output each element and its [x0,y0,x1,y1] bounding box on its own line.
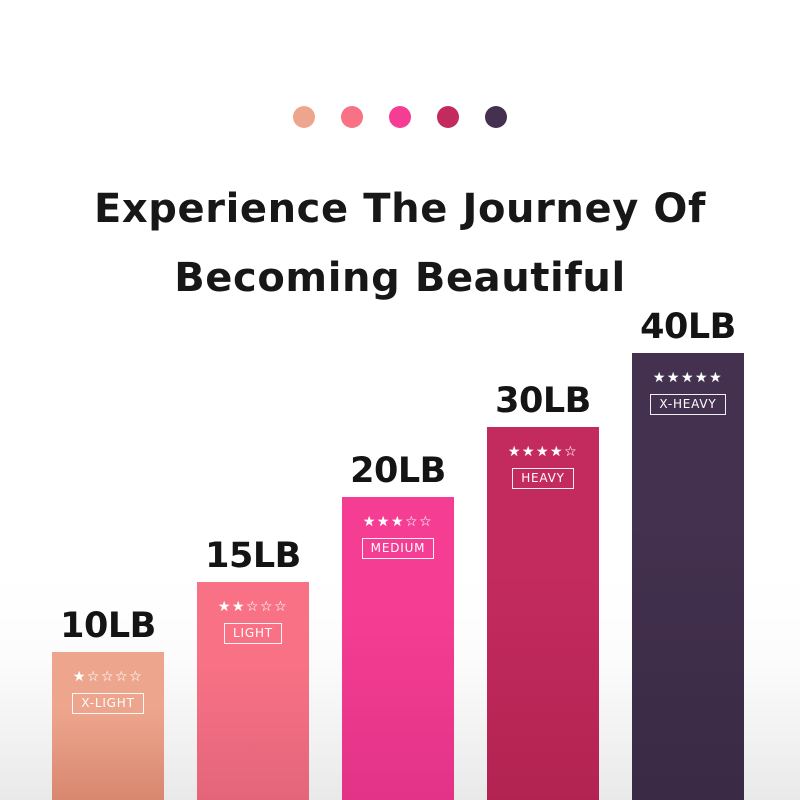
resistance-band-bar-chart: 10LB★☆☆☆☆X-LIGHT15LB★★☆☆☆LIGHT20LB★★★☆☆M… [0,0,800,800]
infographic-root: Experience The Journey Of Becoming Beaut… [0,0,800,800]
bar-group-heavy[interactable]: 30LB★★★★☆HEAVY [487,427,599,800]
bar-group-x-heavy[interactable]: 40LB★★★★★X-HEAVY [632,353,744,800]
bar-weight-label: 30LB [495,381,591,421]
bar-weight-label: 15LB [205,536,301,576]
bar-30lb: ★★★★☆HEAVY [487,427,599,800]
bar-group-light[interactable]: 15LB★★☆☆☆LIGHT [197,582,309,800]
rating-stars: ★★☆☆☆ [218,600,288,614]
bar-group-x-light[interactable]: 10LB★☆☆☆☆X-LIGHT [52,652,164,800]
bar-weight-label: 10LB [60,606,156,646]
level-badge: MEDIUM [362,538,435,559]
bar-20lb: ★★★☆☆MEDIUM [342,497,454,800]
level-badge: X-HEAVY [650,394,725,415]
level-badge: HEAVY [512,468,574,489]
bar-weight-label: 40LB [640,307,736,347]
rating-stars: ★★★★☆ [508,445,578,459]
bar-weight-label: 20LB [350,451,446,491]
bar-10lb: ★☆☆☆☆X-LIGHT [52,652,164,800]
level-badge: X-LIGHT [72,693,143,714]
rating-stars: ★★★★★ [653,371,723,385]
rating-stars: ★☆☆☆☆ [73,670,143,684]
bar-group-medium[interactable]: 20LB★★★☆☆MEDIUM [342,497,454,800]
bar-40lb: ★★★★★X-HEAVY [632,353,744,800]
bar-15lb: ★★☆☆☆LIGHT [197,582,309,800]
level-badge: LIGHT [224,623,282,644]
rating-stars: ★★★☆☆ [363,515,433,529]
